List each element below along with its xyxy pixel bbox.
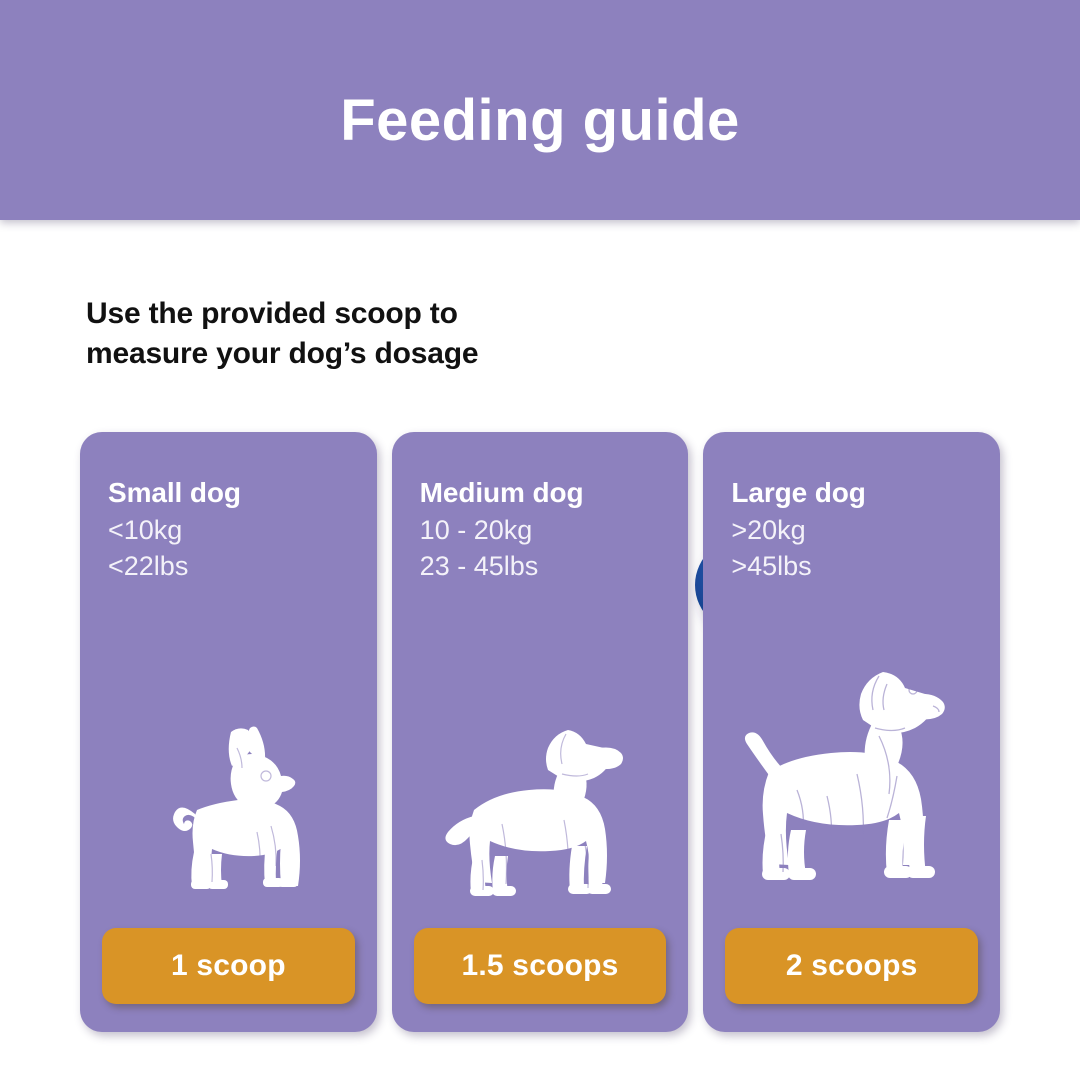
page-title: Feeding guide [0,86,1080,156]
card-weight-lbs: >45lbs [731,548,811,584]
card-weight-lbs: <22lbs [108,548,188,584]
large-dog-pointer-icon [703,614,1000,904]
card-medium-dog[interactable]: Medium dog 10 - 20kg 23 - 45lbs [392,432,689,1032]
card-weight-kg: <10kg [108,512,182,548]
scoop-amount-button[interactable]: 1 scoop [102,928,355,1004]
dog-size-cards: Small dog <10kg <22lbs [80,432,1000,1032]
scoop-amount-button[interactable]: 1.5 scoops [414,928,667,1004]
card-weight-kg: 10 - 20kg [420,512,533,548]
card-title: Large dog [731,476,865,510]
instruction-row: Use the provided scoop to measure your d… [0,250,1080,420]
small-dog-chihuahua-icon [80,614,377,904]
card-small-dog[interactable]: Small dog <10kg <22lbs [80,432,377,1032]
instruction-line-2: measure your dog’s dosage [86,334,606,374]
card-title: Medium dog [420,476,584,510]
instruction-text: Use the provided scoop to measure your d… [86,294,606,374]
card-weight-kg: >20kg [731,512,805,548]
scoop-amount-button[interactable]: 2 scoops [725,928,978,1004]
card-large-dog[interactable]: Large dog >20kg >45lbs [703,432,1000,1032]
instruction-line-1: Use the provided scoop to [86,294,606,334]
medium-dog-labrador-icon [392,614,689,904]
card-title: Small dog [108,476,241,510]
card-weight-lbs: 23 - 45lbs [420,548,539,584]
header-band: Feeding guide [0,0,1080,220]
